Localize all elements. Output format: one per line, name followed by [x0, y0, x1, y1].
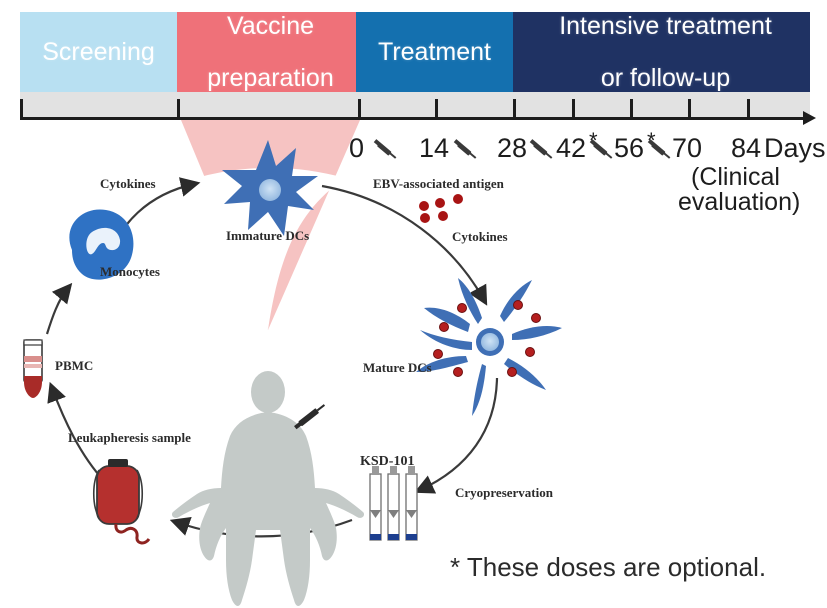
label-ksd-101: KSD-101 [360, 454, 414, 470]
ksd101-vials-icon [370, 466, 417, 540]
injection-syringe-icon [293, 403, 326, 431]
figure-canvas: Screening Vaccine preparation Treatment … [0, 0, 827, 608]
blood-bag-icon [94, 459, 149, 543]
pbmc-tube-icon [24, 340, 42, 398]
footnote-optional-doses: * These doses are optional. [450, 552, 766, 583]
label-ebv-associated-antigen: EBV-associated antigen [373, 176, 504, 192]
label-mature-dcs: Mature DCs [363, 360, 432, 376]
label-monocytes: Monocytes [100, 264, 160, 280]
label-leukapheresis-sample: Leukapheresis sample [68, 430, 191, 446]
label-cytokines-left: Cytokines [100, 176, 156, 192]
immature-dc-cell [222, 140, 318, 236]
mature-dc-cell [416, 278, 562, 416]
vaccine-production-cycle [0, 0, 827, 608]
label-pbmc: PBMC [55, 358, 93, 374]
label-immature-dcs: Immature DCs [226, 228, 309, 244]
label-cryopreservation: Cryopreservation [455, 485, 553, 501]
label-cytokines-right: Cytokines [452, 229, 508, 245]
ebv-antigen-dots [419, 194, 463, 223]
patient-silhouette [172, 371, 364, 606]
